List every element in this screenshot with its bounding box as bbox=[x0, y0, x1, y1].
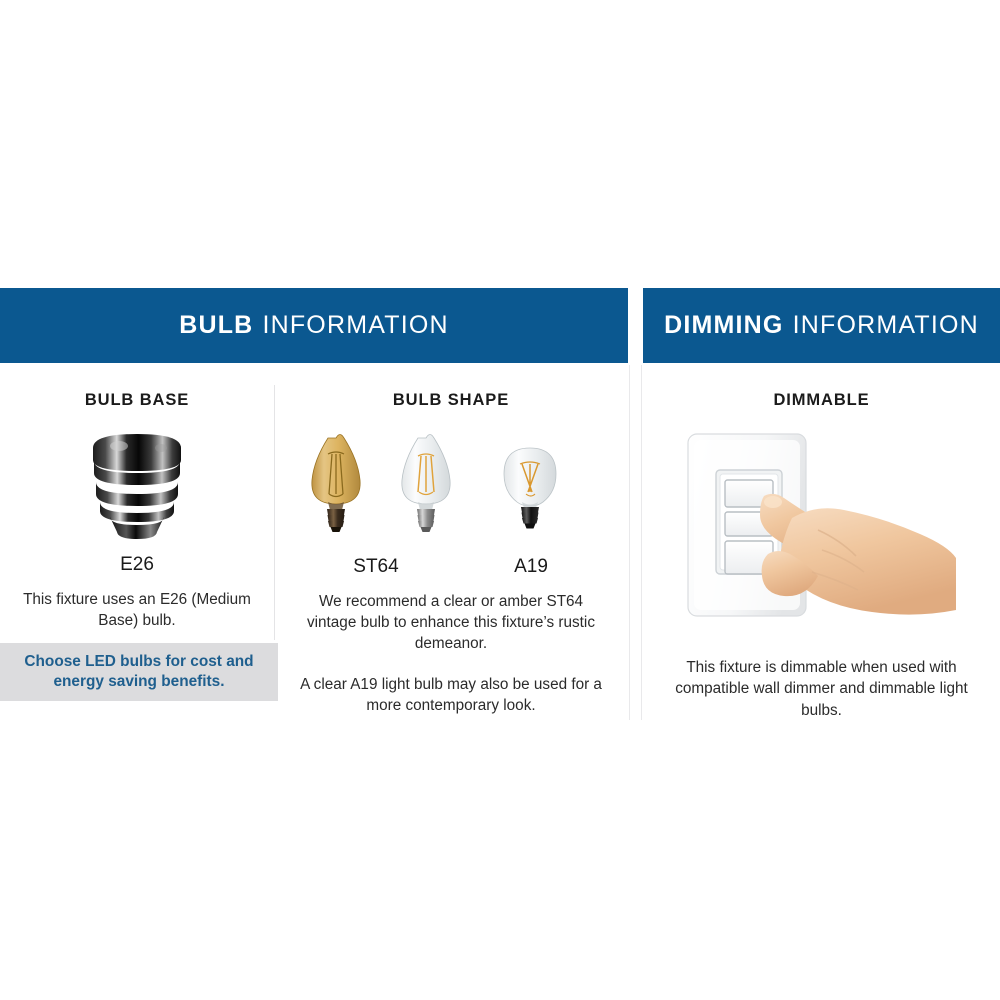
bulb-shape-icons bbox=[296, 424, 606, 549]
bulb-base-item-label: E26 bbox=[0, 554, 274, 576]
clear-st64-bulb-icon bbox=[402, 435, 450, 533]
e26-socket-icon bbox=[77, 424, 197, 542]
dimmable-description: This fixture is dimmable when used with … bbox=[643, 657, 1000, 721]
bulb-shape-title: BULB SHAPE bbox=[274, 391, 628, 410]
led-callout-text: Choose LED bulbs for cost and energy sav… bbox=[0, 652, 278, 693]
bulb-and-dimming-infographic: BULB INFORMATION DIMMING INFORMATION BUL… bbox=[0, 0, 1000, 1000]
amber-st64-bulb-icon bbox=[312, 435, 360, 533]
e26-socket-art bbox=[0, 424, 274, 544]
bulb-header-light: INFORMATION bbox=[262, 311, 448, 340]
bulb-shape-label-st64: ST64 bbox=[296, 556, 456, 578]
clear-a19-bulb-icon bbox=[504, 448, 556, 529]
bulb-shape-column: BULB SHAPE bbox=[274, 363, 628, 717]
bulb-base-title: BULB BASE bbox=[0, 391, 274, 410]
dimming-header-light: INFORMATION bbox=[793, 311, 979, 340]
bulb-shape-labels: ST64 A19 bbox=[274, 552, 628, 578]
bulb-shape-label-a19: A19 bbox=[456, 556, 606, 578]
dimming-information-panel: DIMMING INFORMATION bbox=[643, 288, 1000, 363]
bulb-shape-description-1: We recommend a clear or amber ST64 vinta… bbox=[274, 592, 628, 655]
dimmer-switch-art bbox=[643, 426, 1000, 641]
dimming-header-strong: DIMMING bbox=[664, 311, 784, 340]
wall-dimmer-switch-icon bbox=[672, 426, 972, 641]
led-callout-box: Choose LED bulbs for cost and energy sav… bbox=[0, 643, 278, 701]
panel-divider-right bbox=[641, 365, 642, 720]
bulb-header-strong: BULB bbox=[179, 311, 253, 340]
dimmable-title: DIMMABLE bbox=[643, 391, 1000, 410]
panel-divider-left bbox=[629, 365, 630, 720]
bulb-information-header: BULB INFORMATION bbox=[0, 288, 628, 363]
bulb-shape-description-2: A clear A19 light bulb may also be used … bbox=[274, 675, 628, 717]
dimming-body: DIMMABLE bbox=[643, 363, 1000, 721]
bulb-base-description: This fixture uses an E26 (Medium Base) b… bbox=[0, 590, 274, 632]
bulb-shape-art bbox=[274, 424, 628, 544]
dimming-information-header: DIMMING INFORMATION bbox=[643, 288, 1000, 363]
bulb-information-panel: BULB INFORMATION bbox=[0, 288, 628, 363]
